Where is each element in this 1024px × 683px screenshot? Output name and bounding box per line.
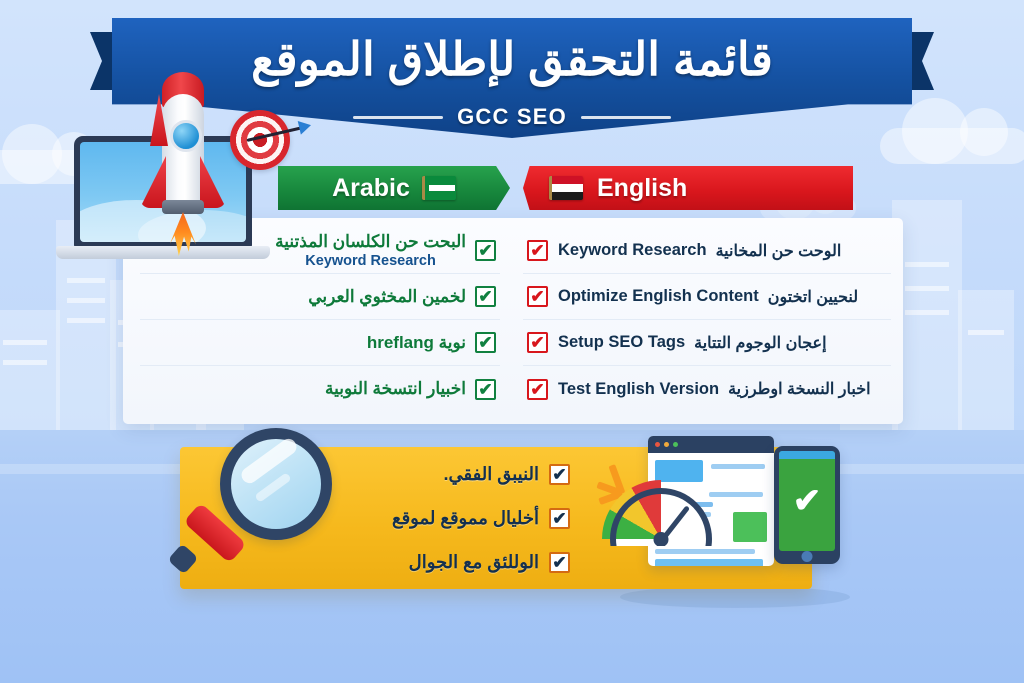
content-block: [711, 464, 765, 469]
browser-dot-yellow: [664, 442, 669, 447]
checkbox-icon[interactable]: ✔: [527, 240, 548, 261]
laptop-base: [56, 246, 270, 259]
content-block: [655, 460, 703, 482]
list-item[interactable]: ✔ Setup SEO Tags إعجان الوجوم التتاية: [523, 320, 891, 366]
rocket-engine-band: [162, 200, 204, 214]
list-item[interactable]: نوية hreflang ✔: [140, 320, 500, 366]
list-item[interactable]: اخبيار انتسخة النوبية ✔: [140, 366, 500, 412]
english-item-text: Optimize English Content لنحيين اتختون: [558, 287, 858, 307]
english-checklist: ✔ Keyword Research الوحت حن المخانية ✔ O…: [523, 228, 891, 412]
list-item[interactable]: ✔ Test English Version اخبار النسخة اوطر…: [523, 366, 891, 412]
checkbox-icon[interactable]: ✔: [475, 240, 496, 261]
rocket-laptop-illustration: [46, 96, 306, 276]
rocket-window: [170, 120, 202, 152]
browser-titlebar: [648, 436, 774, 453]
checkbox-icon[interactable]: ✔: [527, 332, 548, 353]
list-item[interactable]: النيبق الفقي. ✔: [330, 452, 570, 496]
checkbox-icon[interactable]: ✔: [527, 286, 548, 307]
list-item[interactable]: لخمين المخثوي العربي ✔: [140, 274, 500, 320]
english-header-label: English: [597, 174, 687, 203]
english-item-text: Keyword Research الوحت حن المخانية: [558, 241, 841, 261]
checkbox-icon[interactable]: ✔: [475, 379, 496, 400]
check-icon: ✔: [793, 484, 822, 518]
english-item-arabic-text: لنحيين اتختون: [768, 287, 858, 307]
content-block: [733, 512, 767, 542]
checkbox-icon[interactable]: ✔: [549, 508, 570, 529]
browser-dot-red: [655, 442, 660, 447]
gauge-hub: [654, 532, 669, 546]
phone-screen: ✔: [779, 451, 835, 551]
arabic-item-text: لخمين المخثوي العربي: [308, 287, 466, 307]
technical-item-text: الوللئق مع الجوال: [409, 552, 539, 573]
checkbox-icon[interactable]: ✔: [549, 552, 570, 573]
building-silhouette: [0, 310, 60, 430]
magnifying-glass-icon: [178, 428, 338, 583]
infographic-canvas: قائمة التحقق لإطلاق الموقع GCC SEO Arabi…: [0, 0, 1024, 683]
page-title: قائمة التحقق لإطلاق الموقع: [112, 32, 912, 86]
content-block: [655, 549, 755, 554]
english-item-arabic-text: اخبار النسخة اوطرزية: [728, 379, 870, 399]
arabic-item-text: اخبيار انتسخة النوبية: [325, 379, 466, 399]
building-silhouette: [958, 290, 1014, 430]
rocket-icon: [150, 94, 216, 244]
technical-checklist: النيبق الفقي. ✔ أخليال مموقع لموقع ✔ الو…: [330, 452, 570, 584]
technical-item-text: النيبق الفقي.: [444, 464, 540, 485]
english-item-text: Test English Version اخبار النسخة اوطرزي…: [558, 379, 871, 399]
magnifier-lens: [220, 428, 332, 540]
english-column-header[interactable]: English: [523, 166, 853, 210]
page-subtitle: GCC SEO: [457, 104, 567, 130]
technical-item-text: أخليال مموقع لموقع: [392, 508, 539, 529]
target-dartboard-icon: [230, 110, 290, 170]
list-item[interactable]: الوللئق مع الجوال ✔: [330, 540, 570, 584]
checkbox-icon[interactable]: ✔: [527, 379, 548, 400]
saudi-flag-icon: [422, 176, 456, 200]
english-item-arabic-text: إعجان الوجوم التتاية: [694, 333, 826, 353]
browser-dot-green: [673, 442, 678, 447]
rule-left: [353, 116, 443, 119]
phone-home-button: [802, 551, 813, 562]
list-item[interactable]: ✔ Optimize English Content لنحيين اتختون: [523, 274, 891, 320]
checkbox-icon[interactable]: ✔: [475, 332, 496, 353]
arabic-column-header[interactable]: Arabic: [278, 166, 510, 210]
english-item-text: Setup SEO Tags إعجان الوجوم التتاية: [558, 333, 827, 353]
rule-right: [581, 116, 671, 119]
arabic-header-label: Arabic: [332, 174, 410, 203]
checkbox-icon[interactable]: ✔: [549, 464, 570, 485]
mobile-phone-icon: ✔: [774, 446, 840, 564]
content-block: [655, 559, 763, 566]
seo-tools-illustration: ✔: [588, 424, 858, 604]
yemen-flag-icon: [549, 176, 583, 200]
list-item[interactable]: أخليال مموقع لموقع ✔: [330, 496, 570, 540]
arabic-item-text: نوية hreflang: [367, 333, 466, 353]
checkbox-icon[interactable]: ✔: [475, 286, 496, 307]
english-item-arabic-text: الوحت حن المخانية: [716, 241, 842, 261]
list-item[interactable]: ✔ Keyword Research الوحت حن المخانية: [523, 228, 891, 274]
speedometer-gauge-icon: [602, 480, 720, 546]
